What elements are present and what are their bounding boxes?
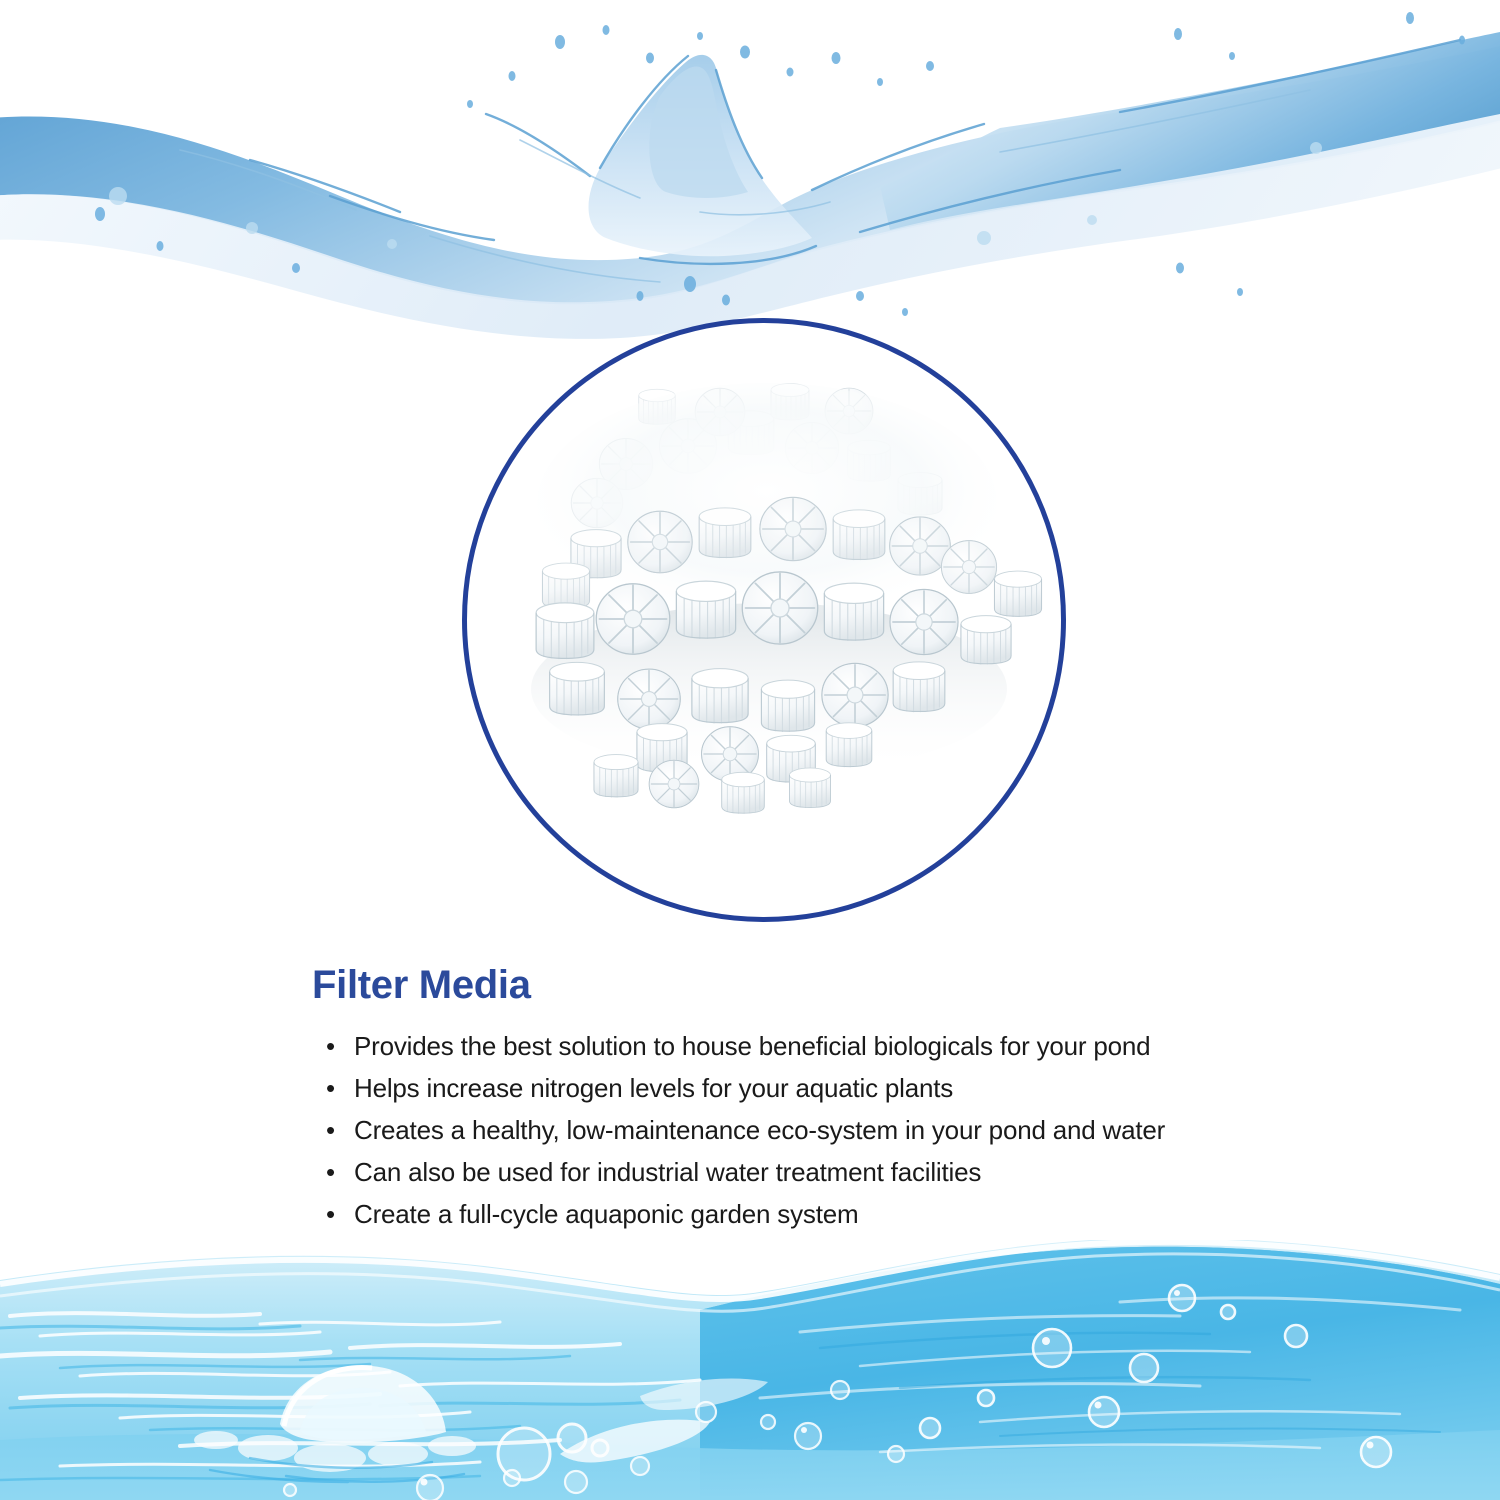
list-item: • Helps increase nitrogen levels for you… [312, 1071, 1312, 1105]
feature-list: • Provides the best solution to house be… [312, 1029, 1312, 1231]
water-splash-graphic [0, 0, 1500, 340]
list-item-label: Create a full-cycle aquaponic garden sys… [354, 1197, 858, 1231]
water-wave-graphic [0, 1240, 1500, 1500]
bullet-icon: • [312, 1029, 354, 1063]
bullet-icon: • [312, 1155, 354, 1189]
product-marketing-page: Filter Media • Provides the best solutio… [0, 0, 1500, 1500]
list-item: • Creates a healthy, low-maintenance eco… [312, 1113, 1312, 1147]
list-item-label: Can also be used for industrial water tr… [354, 1155, 981, 1189]
filter-media-pile [467, 323, 1061, 917]
list-item: • Can also be used for industrial water … [312, 1155, 1312, 1189]
list-item: • Create a full-cycle aquaponic garden s… [312, 1197, 1312, 1231]
list-item-label: Creates a healthy, low-maintenance eco-s… [354, 1113, 1165, 1147]
content-block: Filter Media • Provides the best solutio… [312, 963, 1312, 1239]
list-item: • Provides the best solution to house be… [312, 1029, 1312, 1063]
bullet-icon: • [312, 1071, 354, 1105]
bullet-icon: • [312, 1113, 354, 1147]
list-item-label: Provides the best solution to house bene… [354, 1029, 1150, 1063]
list-item-label: Helps increase nitrogen levels for your … [354, 1071, 953, 1105]
bullet-icon: • [312, 1197, 354, 1231]
product-image-circle [462, 318, 1066, 922]
page-title: Filter Media [312, 963, 1312, 1007]
